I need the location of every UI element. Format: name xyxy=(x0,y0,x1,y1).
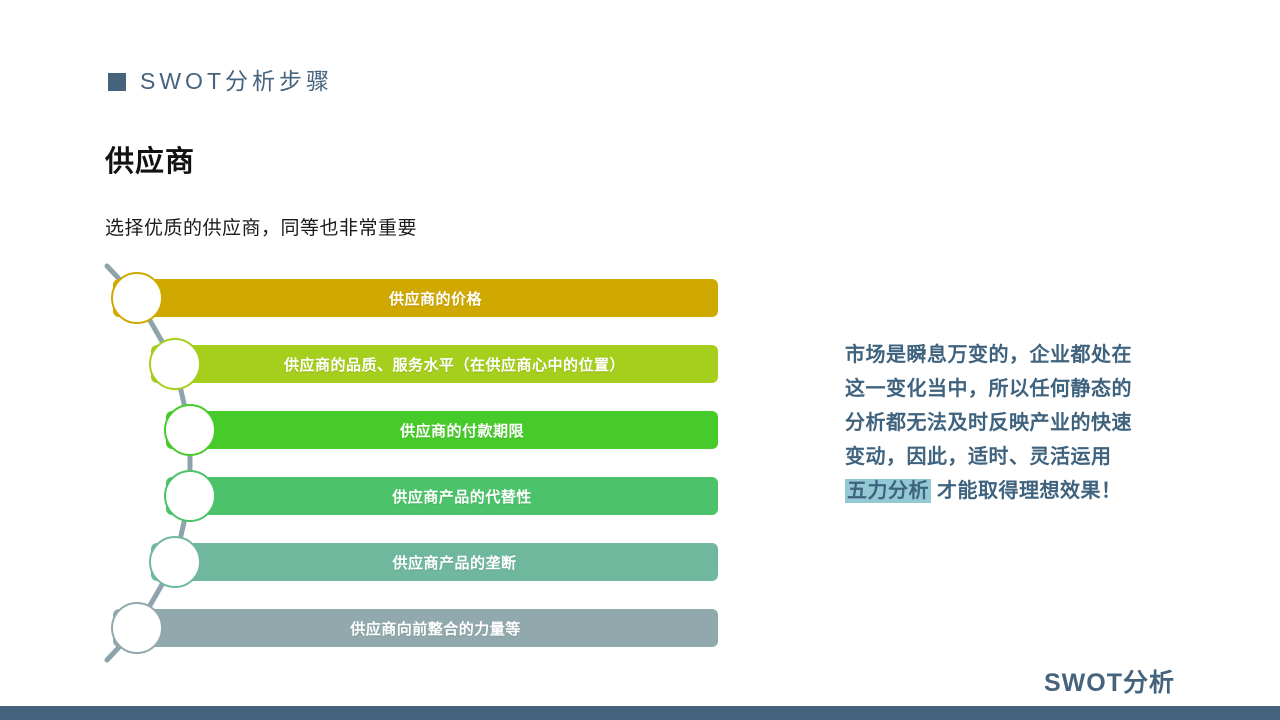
footer-brand: SWOT分析 xyxy=(1044,663,1175,699)
note-text: 变动，因此，适时、灵活运用 xyxy=(845,446,1112,468)
process-bar[interactable]: 供应商的付款期限 xyxy=(166,411,718,449)
footer-bar xyxy=(0,706,1280,720)
process-bar[interactable]: 供应商的价格 xyxy=(113,279,718,317)
note-text: 才能取得理想效果！ xyxy=(931,480,1122,502)
process-node-circle[interactable] xyxy=(149,536,201,588)
process-node-circle[interactable] xyxy=(149,338,201,390)
process-node-circle[interactable] xyxy=(111,602,163,654)
process-bar[interactable]: 供应商向前整合的力量等 xyxy=(113,609,718,647)
note-line: 分析都无法及时反映产业的快速 xyxy=(845,406,1205,440)
process-list: 供应商的价格供应商的品质、服务水平（在供应商心中的位置）供应商的付款期限供应商产… xyxy=(0,0,760,720)
note-line: 市场是瞬息万变的，企业都处在 xyxy=(845,338,1205,372)
note-paragraph: 市场是瞬息万变的，企业都处在这一变化当中，所以任何静态的分析都无法及时反映产业的… xyxy=(845,338,1205,508)
process-node-circle[interactable] xyxy=(111,272,163,324)
slide: SWOT分析步骤 供应商 选择优质的供应商，同等也非常重要 供应商的价格供应商的… xyxy=(0,0,1280,720)
process-bar-label: 供应商向前整合的力量等 xyxy=(310,618,521,639)
process-bar-label: 供应商的品质、服务水平（在供应商心中的位置） xyxy=(244,354,625,375)
process-bar-label: 供应商产品的垄断 xyxy=(352,552,516,573)
note-line: 变动，因此，适时、灵活运用 xyxy=(845,440,1205,474)
note-text: 分析都无法及时反映产业的快速 xyxy=(845,412,1132,434)
note-text: 这一变化当中，所以任何静态的 xyxy=(845,378,1132,400)
process-bar-label: 供应商的付款期限 xyxy=(360,420,524,441)
process-node-circle[interactable] xyxy=(164,404,216,456)
process-bar[interactable]: 供应商产品的代替性 xyxy=(166,477,718,515)
note-line: 这一变化当中，所以任何静态的 xyxy=(845,372,1205,406)
process-bar[interactable]: 供应商产品的垄断 xyxy=(151,543,718,581)
highlighted-term: 五力分析 xyxy=(845,479,931,503)
process-node-circle[interactable] xyxy=(164,470,216,522)
process-bar[interactable]: 供应商的品质、服务水平（在供应商心中的位置） xyxy=(151,345,718,383)
process-bar-label: 供应商的价格 xyxy=(349,288,482,309)
note-text: 市场是瞬息万变的，企业都处在 xyxy=(845,344,1132,366)
note-line: 五力分析 才能取得理想效果！ xyxy=(845,474,1205,508)
process-bar-label: 供应商产品的代替性 xyxy=(352,486,532,507)
